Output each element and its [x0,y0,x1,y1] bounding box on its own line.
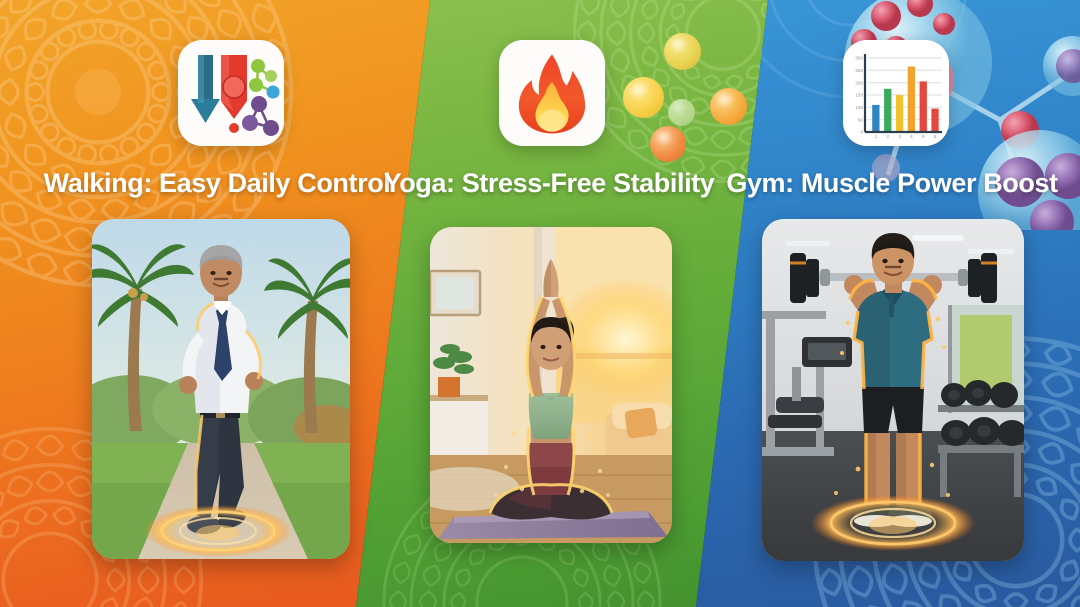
svg-text:6: 6 [934,134,937,139]
gym-photo[interactable]: Man in teal polo shirt and black shorts … [762,219,1024,561]
svg-text:4: 4 [910,134,913,139]
gym-title: Gym: Muscle Power Boost [726,168,1057,199]
svg-text:5: 5 [922,134,925,139]
gym-icon-card[interactable]: 050100150200250300 123456 [843,40,949,146]
down-arrows-molecule-icon [181,43,281,143]
svg-text:300: 300 [855,56,863,61]
fire-icon [506,47,598,139]
svg-text:3: 3 [898,134,901,139]
walking-photo[interactable]: Man in white shirt and navy tie jogging … [92,219,350,559]
svg-text:100: 100 [855,105,863,110]
walking-icon-card[interactable] [178,40,284,146]
svg-text:250: 250 [855,68,863,73]
svg-text:200: 200 [855,80,863,85]
column-gym: 050100150200250300 123456 Gym: Muscle Po… [712,0,1062,607]
svg-text:0: 0 [860,130,863,135]
yoga-photo[interactable]: Woman seated in lotus pose with hands ra… [430,227,672,543]
svg-text:150: 150 [855,93,863,98]
bar-chart-icon: 050100150200250300 123456 [843,40,949,146]
poster-canvas: Walking: Easy Daily Control [0,0,1080,607]
walking-title: Walking: Easy Daily Control [44,168,391,199]
yoga-title: Yoga: Stress-Free Stability [384,168,715,199]
svg-text:1: 1 [875,134,878,139]
column-yoga: 🔥 Yoga: Stress-Free Stability [372,0,722,607]
yoga-icon-card[interactable]: 🔥 [499,40,605,146]
svg-text:50: 50 [858,117,864,122]
column-walking: Walking: Easy Daily Control [30,0,390,607]
svg-text:2: 2 [887,134,890,139]
